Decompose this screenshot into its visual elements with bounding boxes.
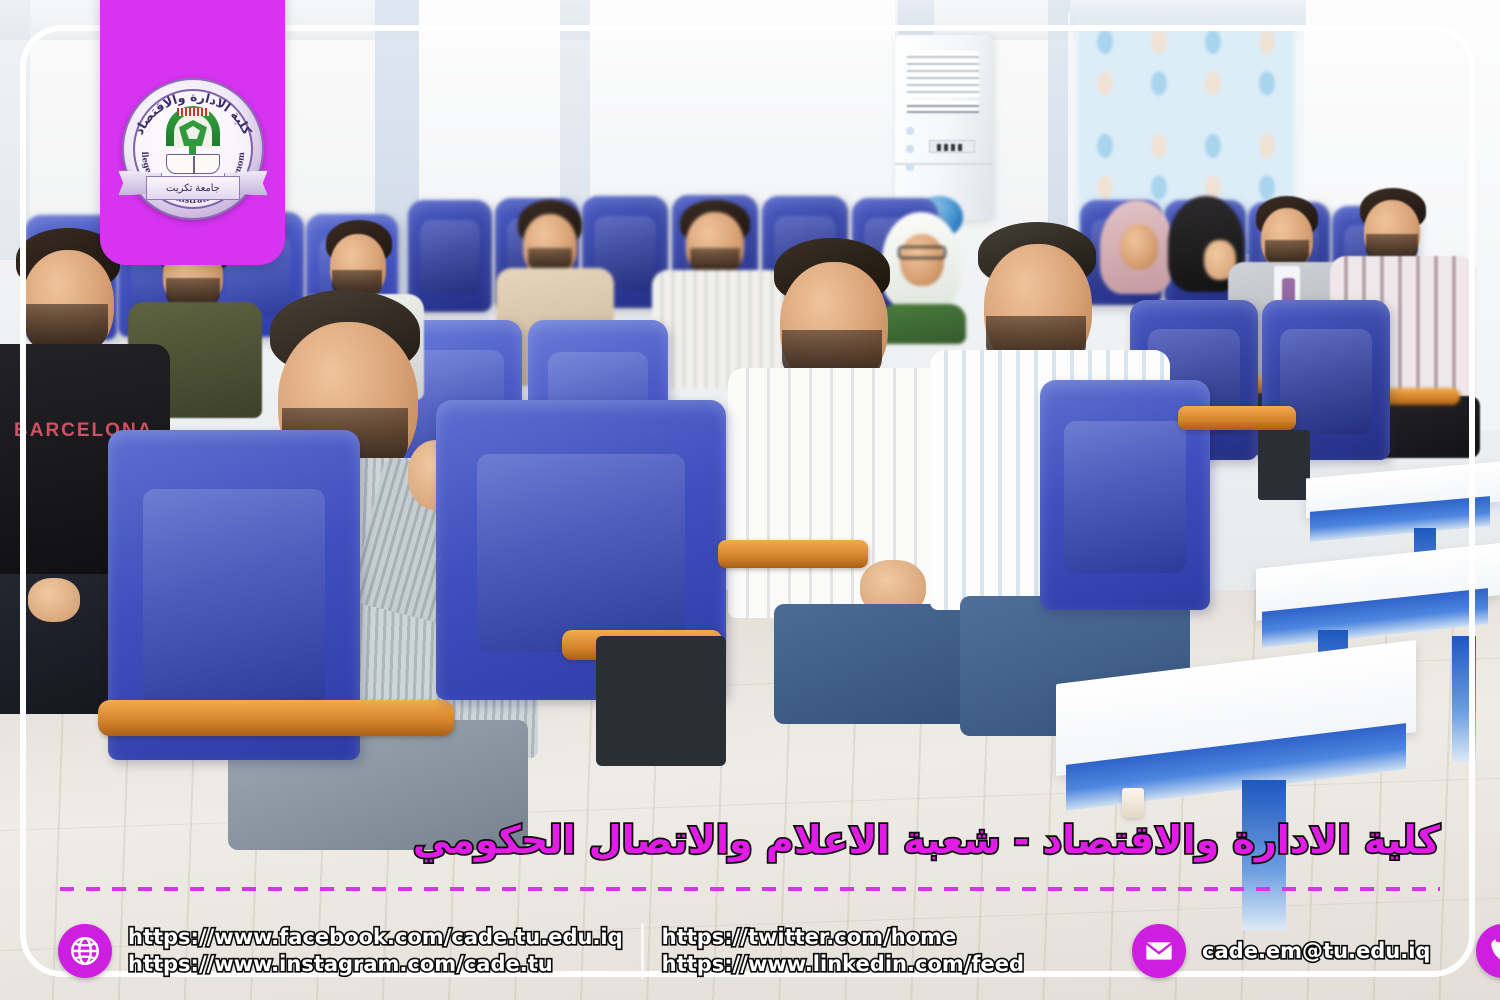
facebook-link[interactable]: https://www.facebook.com/cade.tu.edu.iq	[128, 926, 623, 950]
seal-ribbon: جامعة تكريت	[118, 166, 268, 200]
dashed-divider	[60, 887, 1440, 891]
armrest	[98, 700, 454, 736]
twitter-link[interactable]: https://twitter.com/home	[662, 926, 1024, 950]
vertical-separator	[641, 923, 644, 979]
university-seal-logo: كلية الادارة والاقتصاد College of Admini…	[122, 78, 264, 220]
seal-emblem-icon	[158, 106, 228, 174]
wall-pillar	[560, 0, 590, 215]
secondary-links-group: https://twitter.com/home https://www.lin…	[662, 926, 1024, 976]
wall-pillar	[0, 0, 30, 260]
wall-pillar	[1048, 0, 1070, 250]
armrest	[718, 540, 868, 568]
headline-arabic: كلية الادارة والاقتصاد - شعبة الاعلام وا…	[413, 818, 1440, 862]
contact-bar: https://www.facebook.com/cade.tu.edu.iq …	[58, 908, 1452, 994]
email-address[interactable]: cade.em@tu.edu.iq	[1202, 939, 1430, 963]
envelope-icon[interactable]	[1132, 924, 1186, 978]
air-conditioner	[895, 35, 992, 220]
seat-base	[596, 636, 726, 766]
table-front	[1056, 662, 1416, 942]
web-links-group: https://www.facebook.com/cade.tu.edu.iq …	[128, 926, 623, 976]
globe-icon[interactable]	[58, 924, 112, 978]
seat-base	[1258, 430, 1310, 500]
wall-pillar	[898, 0, 934, 40]
window-valance	[1070, 0, 1306, 28]
instagram-link[interactable]: https://www.instagram.com/cade.tu	[128, 953, 623, 977]
linkedin-link[interactable]: https://www.linkedin.com/feed	[662, 953, 1024, 977]
ribbon-label: جامعة تكريت	[166, 183, 220, 194]
armrest	[1178, 406, 1296, 430]
university-logo-banner: كلية الادارة والاقتصاد College of Admini…	[100, 0, 285, 265]
paper-cup	[1122, 788, 1144, 818]
poster-root: BARCELONA	[0, 0, 1500, 1000]
